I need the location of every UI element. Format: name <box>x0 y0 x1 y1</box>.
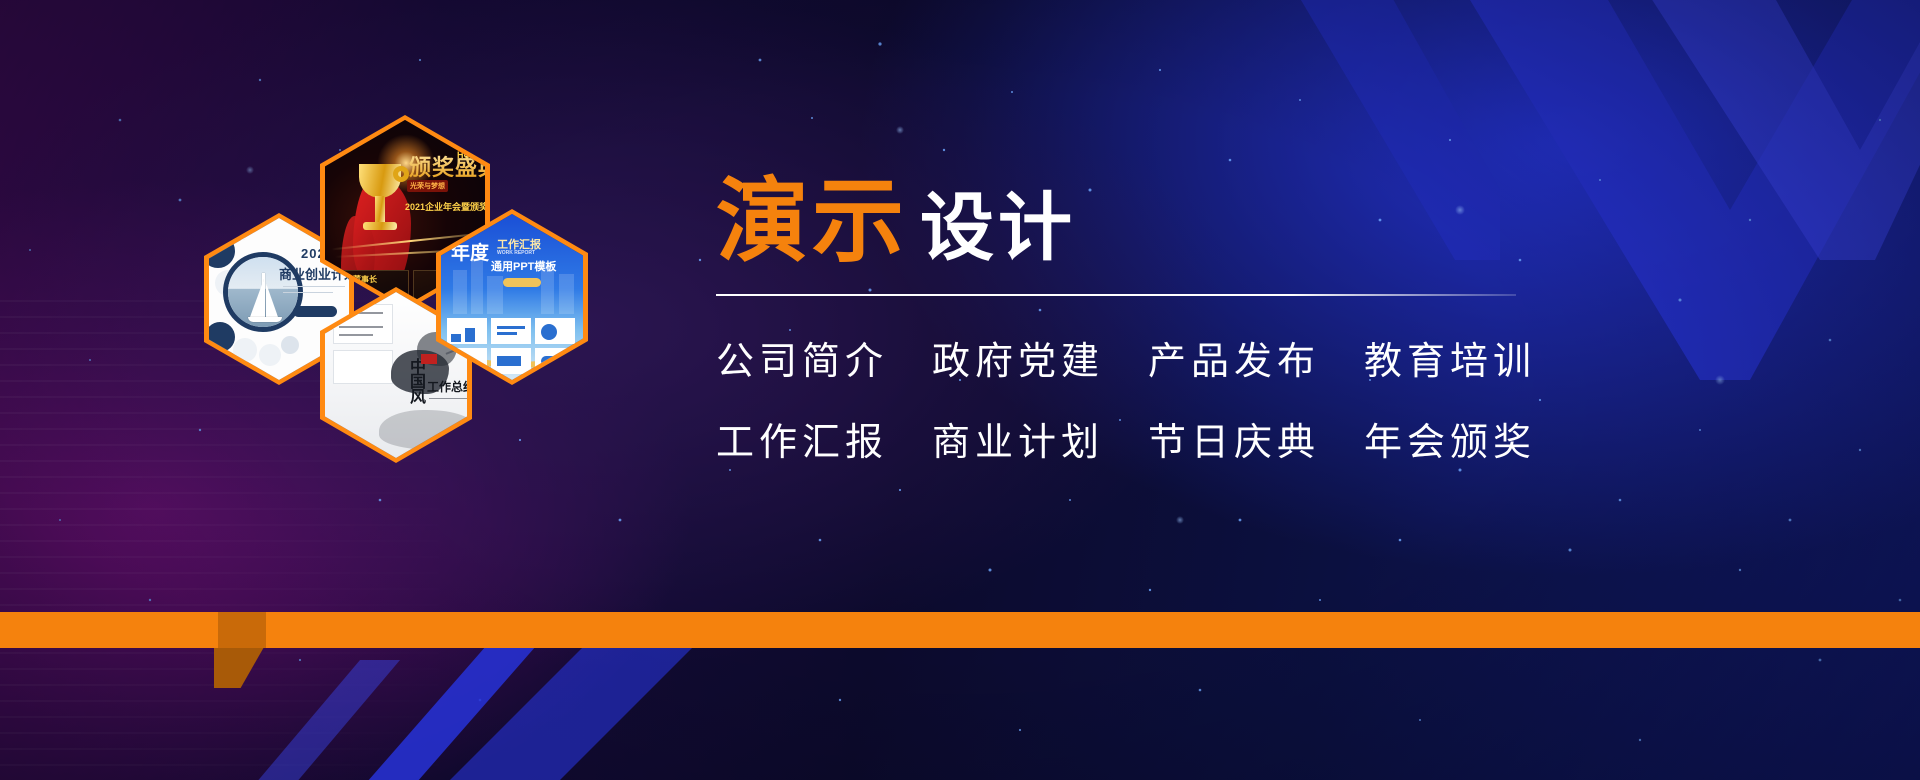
orange-ribbon-bar <box>0 612 1920 648</box>
banner-root: 2020 商业创业计划书 <box>0 0 1920 780</box>
category-tag[interactable]: 产品发布 <box>1148 330 1320 385</box>
title-divider <box>716 294 1516 296</box>
thumb-title-latin: HONOR <box>457 150 485 160</box>
hexagon-thumbnail-cluster: 2020 商业创业计划书 <box>180 105 660 475</box>
banner-text-block: 演示 设计 公司简介 政府党建 产品发布 教育培训 工作汇报 商业计划 节日庆典… <box>716 176 1816 492</box>
category-tag-row: 公司简介 政府党建 产品发布 教育培训 <box>716 330 1816 385</box>
thumb-title: 颁奖盛典 <box>409 150 485 182</box>
category-tag[interactable]: 工作汇报 <box>716 411 888 466</box>
category-tag-list: 公司简介 政府党建 产品发布 教育培训 工作汇报 商业计划 节日庆典 年会颁奖 <box>716 330 1816 466</box>
category-tag[interactable]: 公司简介 <box>716 330 888 385</box>
ribbon-notch <box>218 612 266 648</box>
thumb-title-latin: WORK REPORT <box>497 250 535 256</box>
thumb-badge: 光荣与梦想 <box>407 180 448 192</box>
category-tag[interactable]: 节日庆典 <box>1148 411 1320 466</box>
category-tag[interactable]: 年会颁奖 <box>1364 411 1536 466</box>
category-tag[interactable]: 教育培训 <box>1364 330 1536 385</box>
headline-plain: 设计 <box>920 191 1076 265</box>
thumb-subtitle: 通用PPT模板 <box>491 258 556 274</box>
thumb-subtitle: 工作总结汇报 <box>427 378 467 395</box>
thumb-lead: 年度 <box>451 238 489 265</box>
thumb-subtitle: 2021企业年会暨颁奖典礼 <box>405 200 485 213</box>
category-tag[interactable]: 商业计划 <box>932 411 1104 466</box>
category-tag[interactable]: 政府党建 <box>932 330 1104 385</box>
chevron-decor-bottom <box>250 640 810 780</box>
headline-accent: 演示 <box>716 176 908 268</box>
page-title: 演示 设计 <box>716 176 1816 268</box>
category-tag-row: 工作汇报 商业计划 节日庆典 年会颁奖 <box>716 411 1816 466</box>
thumb-title: 中国风 <box>403 358 427 403</box>
